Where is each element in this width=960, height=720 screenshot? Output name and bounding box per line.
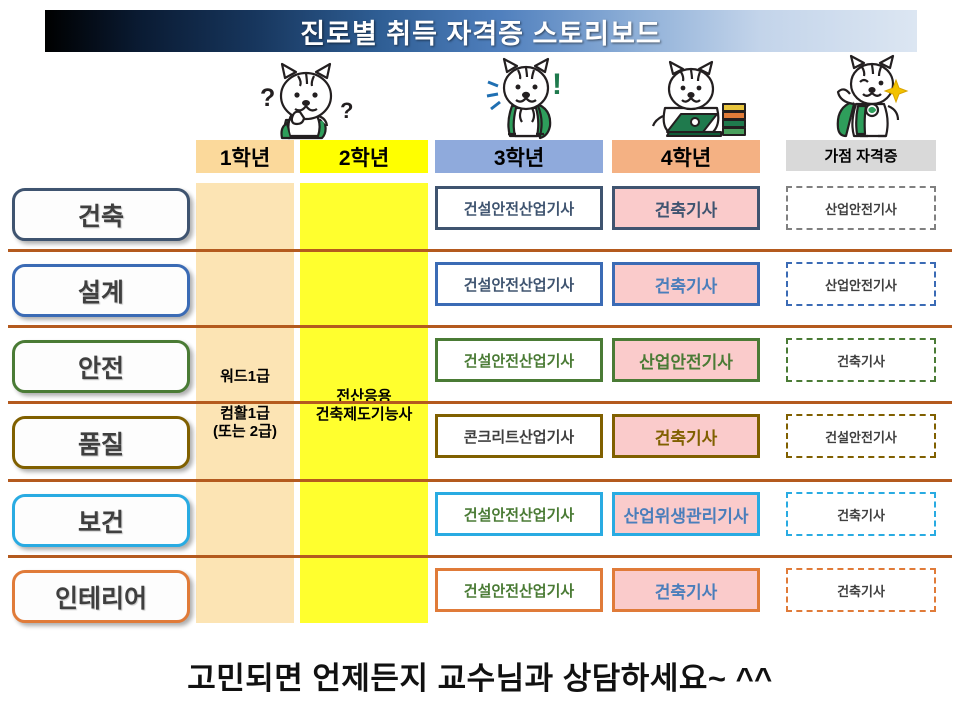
svg-text:!: ! [552,68,562,101]
cert-cell-bonus-건축[interactable]: 산업안전기사 [786,186,936,230]
tiger-excited-icon: ! [478,56,574,140]
year2-note-line2: 건축제도기능사 [316,406,413,423]
row-divider-5 [8,555,952,558]
tiger-thinking-icon: ? ? [252,58,362,140]
cert-cell-bonus-안전[interactable]: 건축기사 [786,338,936,382]
cert-cell-year3-건축[interactable]: 건설안전산업기사 [435,186,603,230]
svg-text:?: ? [340,98,353,123]
track-label-설계[interactable]: 설계 [12,264,190,317]
tiger-studying-icon [645,60,755,140]
column-header-year3[interactable]: 3학년 [435,140,603,173]
cert-cell-bonus-인테리어[interactable]: 건축기사 [786,568,936,612]
row-divider-2 [8,325,952,328]
year1-note-line3-a: (또는 2급) [213,423,277,440]
tiger-waving-icon [826,54,918,140]
row-divider-1 [8,249,952,252]
row-divider-3 [8,401,952,404]
footer-message: 고민되면 언제든지 교수님과 상담하세요~ ^^ [0,645,960,705]
track-label-안전[interactable]: 안전 [12,340,190,393]
column-header-year4[interactable]: 4학년 [612,140,760,173]
track-label-보건[interactable]: 보건 [12,494,190,547]
cert-cell-bonus-설계[interactable]: 산업안전기사 [786,262,936,306]
cert-cell-year4-안전[interactable]: 산업안전기사 [612,338,760,382]
cert-cell-year4-보건[interactable]: 산업위생관리기사 [612,492,760,536]
page-title: 진로별 취득 자격증 스토리보드 [45,10,917,52]
column-header-year1[interactable]: 1학년 [196,140,294,173]
cert-cell-bonus-품질[interactable]: 건설안전기사 [786,414,936,458]
track-label-건축[interactable]: 건축 [12,188,190,241]
cert-cell-year3-설계[interactable]: 건설안전산업기사 [435,262,603,306]
cert-cell-year4-인테리어[interactable]: 건축기사 [612,568,760,612]
cert-cell-year3-인테리어[interactable]: 건설안전산업기사 [435,568,603,612]
year1-note-line2-a: 컴활1급 [220,405,270,422]
cert-cell-year3-품질[interactable]: 콘크리트산업기사 [435,414,603,458]
column-header-bonus[interactable]: 가점 자격증 [786,140,936,171]
track-label-인테리어[interactable]: 인테리어 [12,570,190,623]
track-label-품질[interactable]: 품질 [12,416,190,469]
year1-note-line1: 워드1급 [196,368,294,386]
cert-cell-year3-보건[interactable]: 건설안전산업기사 [435,492,603,536]
year1-note-line2: 컴활1급 (또는 2급) [196,405,294,442]
storyboard-canvas: 진로별 취득 자격증 스토리보드 ? ? [0,0,960,720]
cert-cell-year4-설계[interactable]: 건축기사 [612,262,760,306]
cert-cell-year4-품질[interactable]: 건축기사 [612,414,760,458]
cert-cell-year3-안전[interactable]: 건설안전산업기사 [435,338,603,382]
year2-note: 전산응용 건축제도기능사 [300,388,428,425]
svg-text:?: ? [260,84,275,112]
cert-cell-bonus-보건[interactable]: 건축기사 [786,492,936,536]
column-header-year2[interactable]: 2학년 [300,140,428,173]
cert-cell-year4-건축[interactable]: 건축기사 [612,186,760,230]
row-divider-4 [8,479,952,482]
